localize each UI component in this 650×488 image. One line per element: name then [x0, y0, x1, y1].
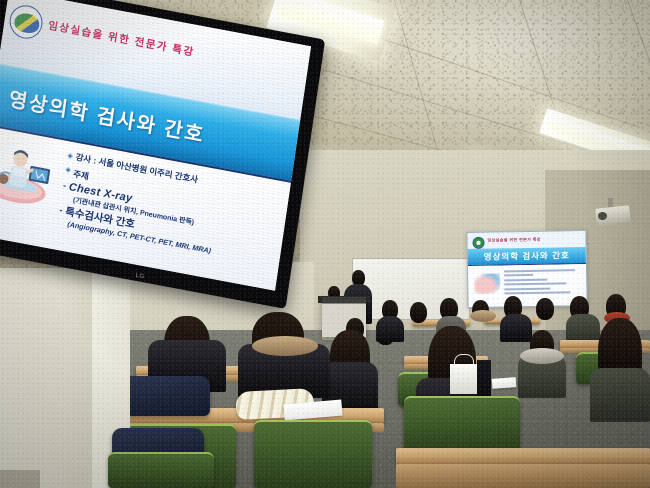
student-head [536, 298, 554, 320]
lecture-slide: 임상실습을 위한 전문가 특강 영상의학 검사와 간호 [0, 0, 311, 291]
white-shopping-bag [450, 364, 478, 394]
chair [254, 420, 372, 488]
monitor-screen: 임상실습을 위한 전문가 특강 영상의학 검사와 간호 [0, 0, 311, 291]
black-bag [477, 360, 491, 396]
clip-art-icon [474, 273, 500, 293]
projection-title: 영상의학 검사와 간호 [484, 249, 570, 263]
handout-papers [492, 377, 517, 389]
navy-backpack [116, 376, 210, 416]
university-emblem-icon [472, 237, 484, 249]
wall-mounted-lcd-monitor[interactable]: 임상실습을 위한 전문가 특강 영상의학 검사와 간호 [0, 0, 325, 309]
university-emblem-icon [7, 3, 44, 42]
student-body [500, 314, 532, 342]
dash-bullet-icon: - [59, 205, 63, 216]
projection-kicker: 임상실습을 위한 전문가 특강 [487, 237, 541, 244]
front-desk-edge [396, 464, 650, 488]
medical-clip-art-icon [0, 141, 64, 214]
lecture-hall-photo: 임상실습을 위한 전문가 특강 영상의학 검사와 간호 [0, 0, 650, 488]
fur-hood-trim [470, 310, 496, 322]
student-body [376, 316, 404, 342]
chair [404, 396, 520, 452]
projection-screen: 임상실습을 위한 전문가 특강 영상의학 검사와 간호 [466, 230, 587, 308]
fur-hood-trim [252, 336, 318, 356]
bullet-text: 주제 [73, 169, 90, 182]
student-body [590, 368, 650, 422]
projection-body [468, 264, 587, 308]
fur-hood-trim [520, 348, 564, 364]
baseboard [0, 470, 40, 488]
diamond-bullet-icon: ◈ [65, 165, 72, 176]
dash-bullet-icon: - [62, 180, 66, 191]
projection-text-lines [504, 269, 581, 297]
chair [108, 452, 214, 488]
bag-handle [454, 354, 474, 365]
student-head [410, 302, 427, 323]
projector-lens-icon [598, 212, 607, 220]
diamond-bullet-icon: ◈ [67, 152, 74, 163]
